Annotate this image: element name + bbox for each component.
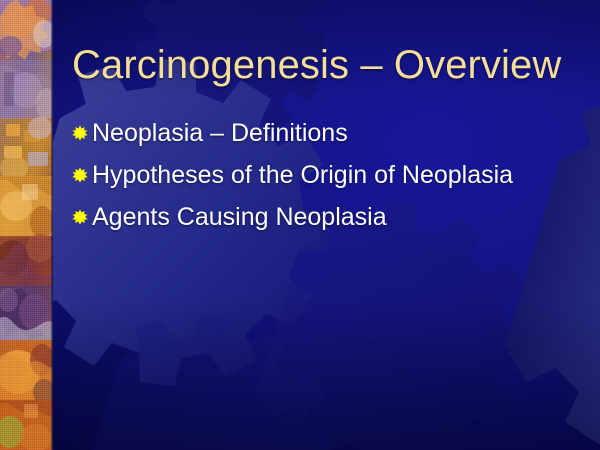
starburst-bullet-icon	[72, 154, 92, 196]
left-decorative-strip	[0, 0, 53, 450]
list-item: Agents Causing Neoplasia	[72, 196, 577, 238]
list-item-label: Neoplasia – Definitions	[92, 112, 348, 154]
strip-right-edge	[51, 0, 53, 450]
starburst-bullet-icon	[72, 112, 92, 154]
list-item-label: Agents Causing Neoplasia	[92, 196, 387, 238]
list-item-label: Hypotheses of the Origin of Neoplasia	[92, 154, 513, 196]
slide-title: Carcinogenesis – Overview	[72, 41, 572, 89]
list-item: Neoplasia – Definitions	[72, 112, 577, 154]
strip-texture-grain	[0, 0, 53, 450]
bullet-list: Neoplasia – Definitions Hypotheses of th…	[72, 112, 577, 238]
starburst-bullet-icon	[72, 196, 92, 238]
presentation-slide: Carcinogenesis – Overview Neoplasia – De…	[0, 0, 600, 450]
list-item: Hypotheses of the Origin of Neoplasia	[72, 154, 577, 196]
